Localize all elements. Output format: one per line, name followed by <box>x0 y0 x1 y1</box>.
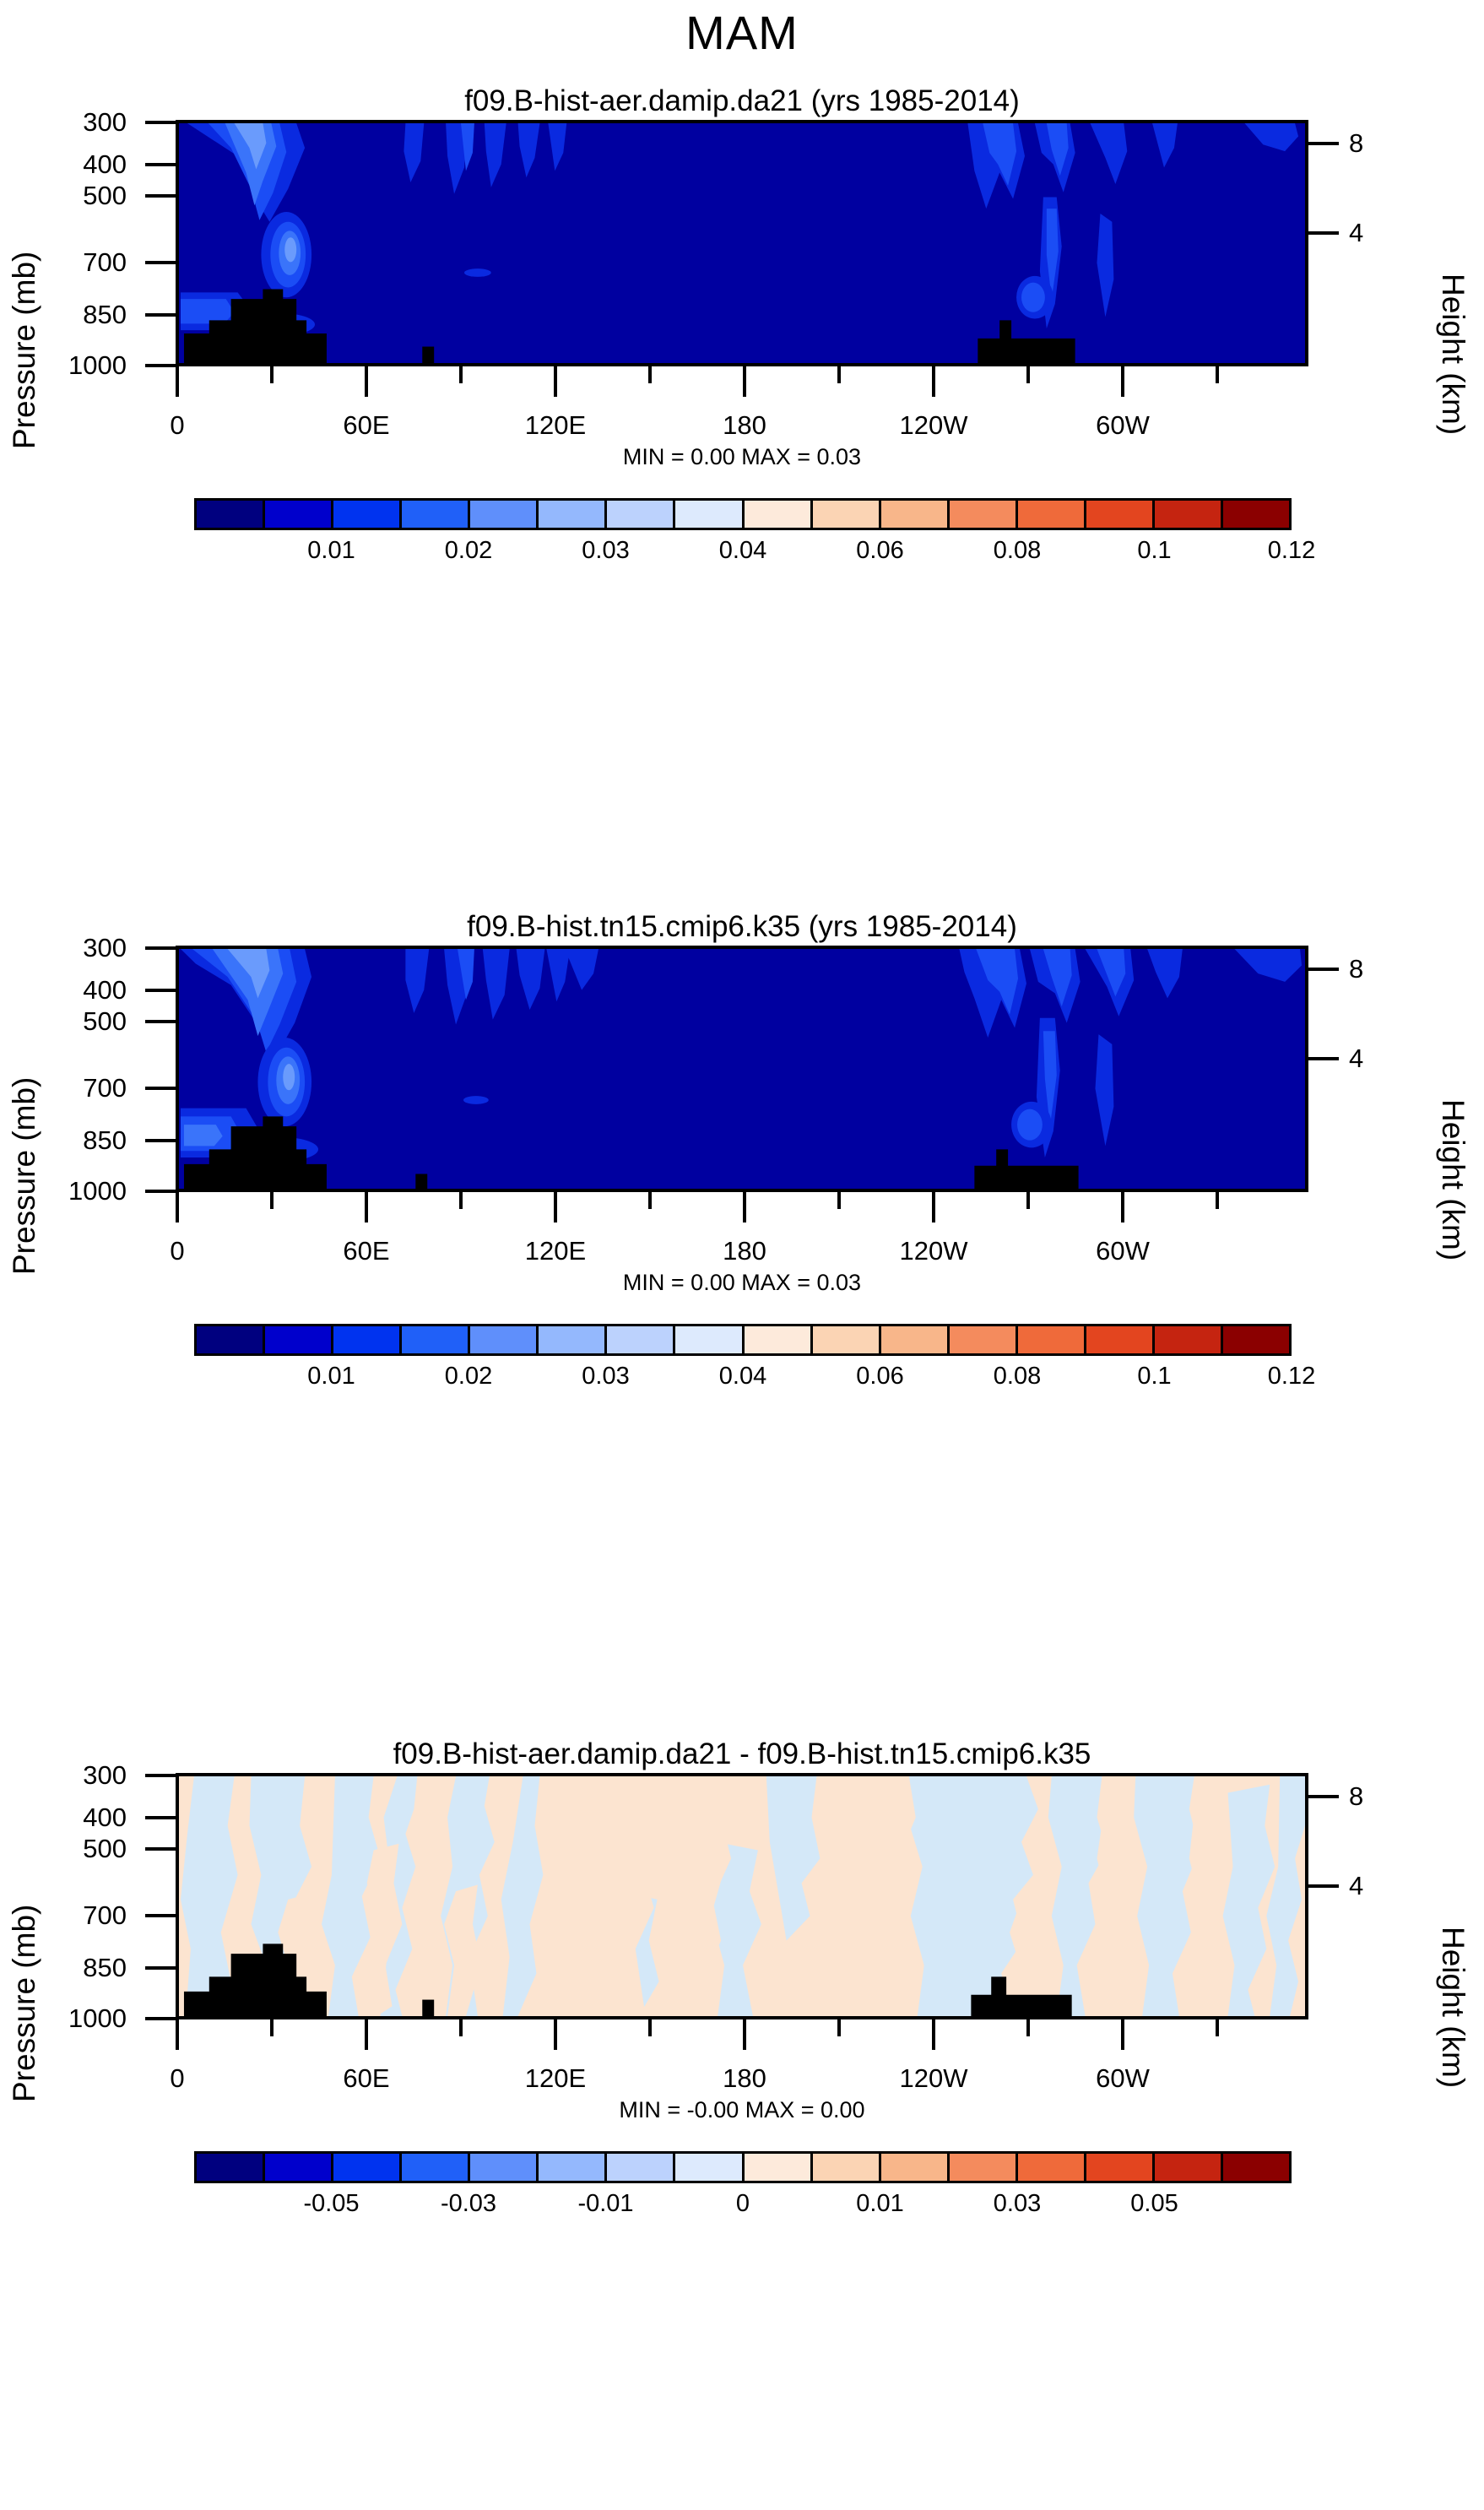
panel-2-ytick-300: 300 <box>51 933 127 963</box>
panel-3-colorbar-ticks: -0.05-0.03-0.0100.010.030.05 <box>194 2190 1292 2224</box>
panel-1-xtick-120E: 120E <box>505 410 606 441</box>
panel-3-minmax: MIN = -0.00 MAX = 0.00 <box>489 2097 995 2123</box>
colorbar-tick-label: 0.03 <box>547 537 665 565</box>
colorbar-cell-6 <box>607 2154 675 2181</box>
colorbar-tick-label: -0.03 <box>409 2190 528 2218</box>
colorbar-cell-8 <box>745 501 813 528</box>
colorbar-cell-2 <box>333 1326 402 1353</box>
colorbar-cell-11 <box>950 1326 1018 1353</box>
colorbar-cell-4 <box>470 2154 539 2181</box>
panel-1-ytick-300: 300 <box>51 107 127 138</box>
colorbar-tick-label: 0.12 <box>1232 537 1351 565</box>
panel-3-xtick-60E: 60E <box>316 2063 417 2094</box>
colorbar-cell-1 <box>265 501 333 528</box>
panel-1-colorbar: 0.010.020.030.040.060.080.10.12 <box>194 498 1292 583</box>
panel-3-height-tick-4: 4 <box>1349 1871 1400 1901</box>
panel-3-xtick-0: 0 <box>127 2063 228 2094</box>
colorbar-cell-10 <box>881 1326 950 1353</box>
colorbar-tick-label: 0.03 <box>958 2190 1076 2218</box>
panel-2-xtick-0: 0 <box>127 1236 228 1266</box>
panel-1: f09.B-hist-aer.damip.da21 (yrs 1985-2014… <box>0 84 1484 895</box>
panel-1-height-tick-4: 4 <box>1349 218 1400 248</box>
panel-3-height-axis-label: Height (km) <box>1435 1873 1470 2143</box>
panel-3-ytick-1000: 1000 <box>51 2003 127 2034</box>
colorbar-cell-8 <box>745 2154 813 2181</box>
panel-2-xtick-60W: 60W <box>1072 1236 1173 1266</box>
panel-1-ytick-500: 500 <box>51 181 127 211</box>
panel-2-height-tick-8: 8 <box>1349 954 1400 984</box>
colorbar-cell-0 <box>197 1326 265 1353</box>
colorbar-tick-label: 0.04 <box>684 537 802 565</box>
colorbar-tick-label: 0 <box>684 2190 802 2218</box>
panel-2: f09.B-hist.tn15.cmip6.k35 (yrs 1985-2014… <box>0 910 1484 1721</box>
panel-2-ytick-700: 700 <box>51 1073 127 1103</box>
panel-1-ytick-700: 700 <box>51 247 127 278</box>
panel-3-title: f09.B-hist-aer.damip.da21 - f09.B-hist.t… <box>0 1737 1484 1771</box>
panel-2-colorbar-strip <box>194 1324 1292 1356</box>
colorbar-cell-3 <box>402 2154 470 2181</box>
colorbar-cell-4 <box>470 501 539 528</box>
colorbar-cell-10 <box>881 501 950 528</box>
colorbar-tick-label: 0.08 <box>958 537 1076 565</box>
colorbar-tick-label: 0.04 <box>684 1363 802 1391</box>
colorbar-cell-0 <box>197 2154 265 2181</box>
colorbar-cell-6 <box>607 1326 675 1353</box>
colorbar-cell-12 <box>1018 501 1086 528</box>
colorbar-cell-14 <box>1155 501 1223 528</box>
panel-3-ytick-700: 700 <box>51 1900 127 1931</box>
colorbar-tick-label: 0.1 <box>1096 537 1214 565</box>
colorbar-cell-4 <box>470 1326 539 1353</box>
colorbar-cell-11 <box>950 501 1018 528</box>
panel-1-minmax: MIN = 0.00 MAX = 0.03 <box>489 444 995 470</box>
panel-2-title: f09.B-hist.tn15.cmip6.k35 (yrs 1985-2014… <box>0 910 1484 944</box>
panel-3-ytick-400: 400 <box>51 1803 127 1833</box>
panel-3-xtick-60W: 60W <box>1072 2063 1173 2094</box>
panel-2-contour-field <box>179 949 1305 1189</box>
panel-1-xtick-120W: 120W <box>883 410 984 441</box>
colorbar-cell-13 <box>1086 2154 1155 2181</box>
colorbar-cell-15 <box>1223 2154 1289 2181</box>
colorbar-cell-9 <box>813 2154 881 2181</box>
colorbar-cell-12 <box>1018 2154 1086 2181</box>
colorbar-cell-14 <box>1155 2154 1223 2181</box>
panel-2-plot-area <box>176 946 1308 1192</box>
colorbar-cell-5 <box>539 2154 607 2181</box>
colorbar-cell-10 <box>881 2154 950 2181</box>
colorbar-cell-7 <box>675 501 744 528</box>
panel-2-ytick-850: 850 <box>51 1125 127 1156</box>
panel-1-xtick-180: 180 <box>694 410 795 441</box>
panel-1-ytick-400: 400 <box>51 149 127 180</box>
panel-1-ytick-1000: 1000 <box>51 350 127 381</box>
panel-1-ytick-850: 850 <box>51 300 127 330</box>
panel-3-ytick-850: 850 <box>51 1953 127 1983</box>
colorbar-tick-label: 0.02 <box>409 1363 528 1391</box>
panel-3-colorbar: -0.05-0.03-0.0100.010.030.05 <box>194 2151 1292 2236</box>
colorbar-cell-2 <box>333 501 402 528</box>
colorbar-tick-label: 0.08 <box>958 1363 1076 1391</box>
panel-2-ytick-400: 400 <box>51 975 127 1006</box>
colorbar-tick-label: 0.02 <box>409 537 528 565</box>
colorbar-cell-15 <box>1223 501 1289 528</box>
panel-2-height-tick-4: 4 <box>1349 1044 1400 1074</box>
panel-2-xtick-60E: 60E <box>316 1236 417 1266</box>
panel-2-minmax: MIN = 0.00 MAX = 0.03 <box>489 1270 995 1296</box>
colorbar-cell-5 <box>539 501 607 528</box>
panel-3-xtick-120E: 120E <box>505 2063 606 2094</box>
panel-3: f09.B-hist-aer.damip.da21 - f09.B-hist.t… <box>0 1737 1484 2510</box>
colorbar-tick-label: -0.05 <box>273 2190 391 2218</box>
panel-1-height-tick-8: 8 <box>1349 128 1400 159</box>
panel-3-colorbar-strip <box>194 2151 1292 2183</box>
panel-3-ytick-300: 300 <box>51 1760 127 1791</box>
colorbar-cell-6 <box>607 501 675 528</box>
panel-1-pressure-axis-label: Pressure (mb) <box>7 211 42 490</box>
colorbar-tick-label: 0.01 <box>273 1363 391 1391</box>
colorbar-cell-9 <box>813 1326 881 1353</box>
panel-2-colorbar-ticks: 0.010.020.030.040.060.080.10.12 <box>194 1363 1292 1396</box>
colorbar-cell-13 <box>1086 1326 1155 1353</box>
panel-3-plot-area <box>176 1773 1308 2019</box>
panel-3-ytick-500: 500 <box>51 1834 127 1864</box>
colorbar-tick-label: 0.06 <box>821 1363 940 1391</box>
panel-2-colorbar: 0.010.020.030.040.060.080.10.12 <box>194 1324 1292 1408</box>
panel-2-ytick-500: 500 <box>51 1006 127 1037</box>
panel-1-colorbar-ticks: 0.010.020.030.040.060.080.10.12 <box>194 537 1292 571</box>
panel-1-xtick-0: 0 <box>127 410 228 441</box>
panel-2-height-axis-label: Height (km) <box>1435 1045 1470 1315</box>
colorbar-cell-9 <box>813 501 881 528</box>
colorbar-cell-15 <box>1223 1326 1289 1353</box>
colorbar-cell-13 <box>1086 501 1155 528</box>
panel-3-xtick-120W: 120W <box>883 2063 984 2094</box>
panel-1-height-axis-label: Height (km) <box>1435 220 1470 490</box>
colorbar-cell-8 <box>745 1326 813 1353</box>
figure-root: MAM f09.B-hist-aer.damip.da21 (yrs 1985-… <box>0 0 1484 2510</box>
colorbar-cell-0 <box>197 501 265 528</box>
panel-1-title: f09.B-hist-aer.damip.da21 (yrs 1985-2014… <box>0 84 1484 118</box>
colorbar-tick-label: 0.06 <box>821 537 940 565</box>
panel-2-xtick-180: 180 <box>694 1236 795 1266</box>
colorbar-tick-label: 0.01 <box>273 537 391 565</box>
panel-3-pressure-axis-label: Pressure (mb) <box>7 1864 42 2143</box>
colorbar-tick-label: 0.01 <box>821 2190 940 2218</box>
figure-title: MAM <box>0 5 1484 60</box>
panel-2-xtick-120E: 120E <box>505 1236 606 1266</box>
panel-1-plot-area <box>176 120 1308 366</box>
colorbar-tick-label: 0.03 <box>547 1363 665 1391</box>
colorbar-cell-5 <box>539 1326 607 1353</box>
colorbar-cell-3 <box>402 501 470 528</box>
panel-2-xtick-120W: 120W <box>883 1236 984 1266</box>
panel-2-ytick-1000: 1000 <box>51 1176 127 1206</box>
colorbar-cell-3 <box>402 1326 470 1353</box>
colorbar-cell-12 <box>1018 1326 1086 1353</box>
panel-2-pressure-axis-label: Pressure (mb) <box>7 1037 42 1315</box>
colorbar-tick-label: 0.12 <box>1232 1363 1351 1391</box>
panel-1-xtick-60E: 60E <box>316 410 417 441</box>
colorbar-tick-label: -0.01 <box>547 2190 665 2218</box>
panel-3-difference-field <box>179 1776 1305 2016</box>
colorbar-cell-1 <box>265 1326 333 1353</box>
colorbar-cell-2 <box>333 2154 402 2181</box>
panel-3-xtick-180: 180 <box>694 2063 795 2094</box>
panel-1-contour-field <box>179 123 1305 363</box>
colorbar-cell-7 <box>675 2154 744 2181</box>
colorbar-tick-label: 0.1 <box>1096 1363 1214 1391</box>
colorbar-cell-11 <box>950 2154 1018 2181</box>
colorbar-cell-7 <box>675 1326 744 1353</box>
panel-3-height-tick-8: 8 <box>1349 1781 1400 1812</box>
panel-1-xtick-60W: 60W <box>1072 410 1173 441</box>
panel-1-colorbar-strip <box>194 498 1292 530</box>
colorbar-cell-14 <box>1155 1326 1223 1353</box>
colorbar-tick-label: 0.05 <box>1096 2190 1214 2218</box>
colorbar-cell-1 <box>265 2154 333 2181</box>
